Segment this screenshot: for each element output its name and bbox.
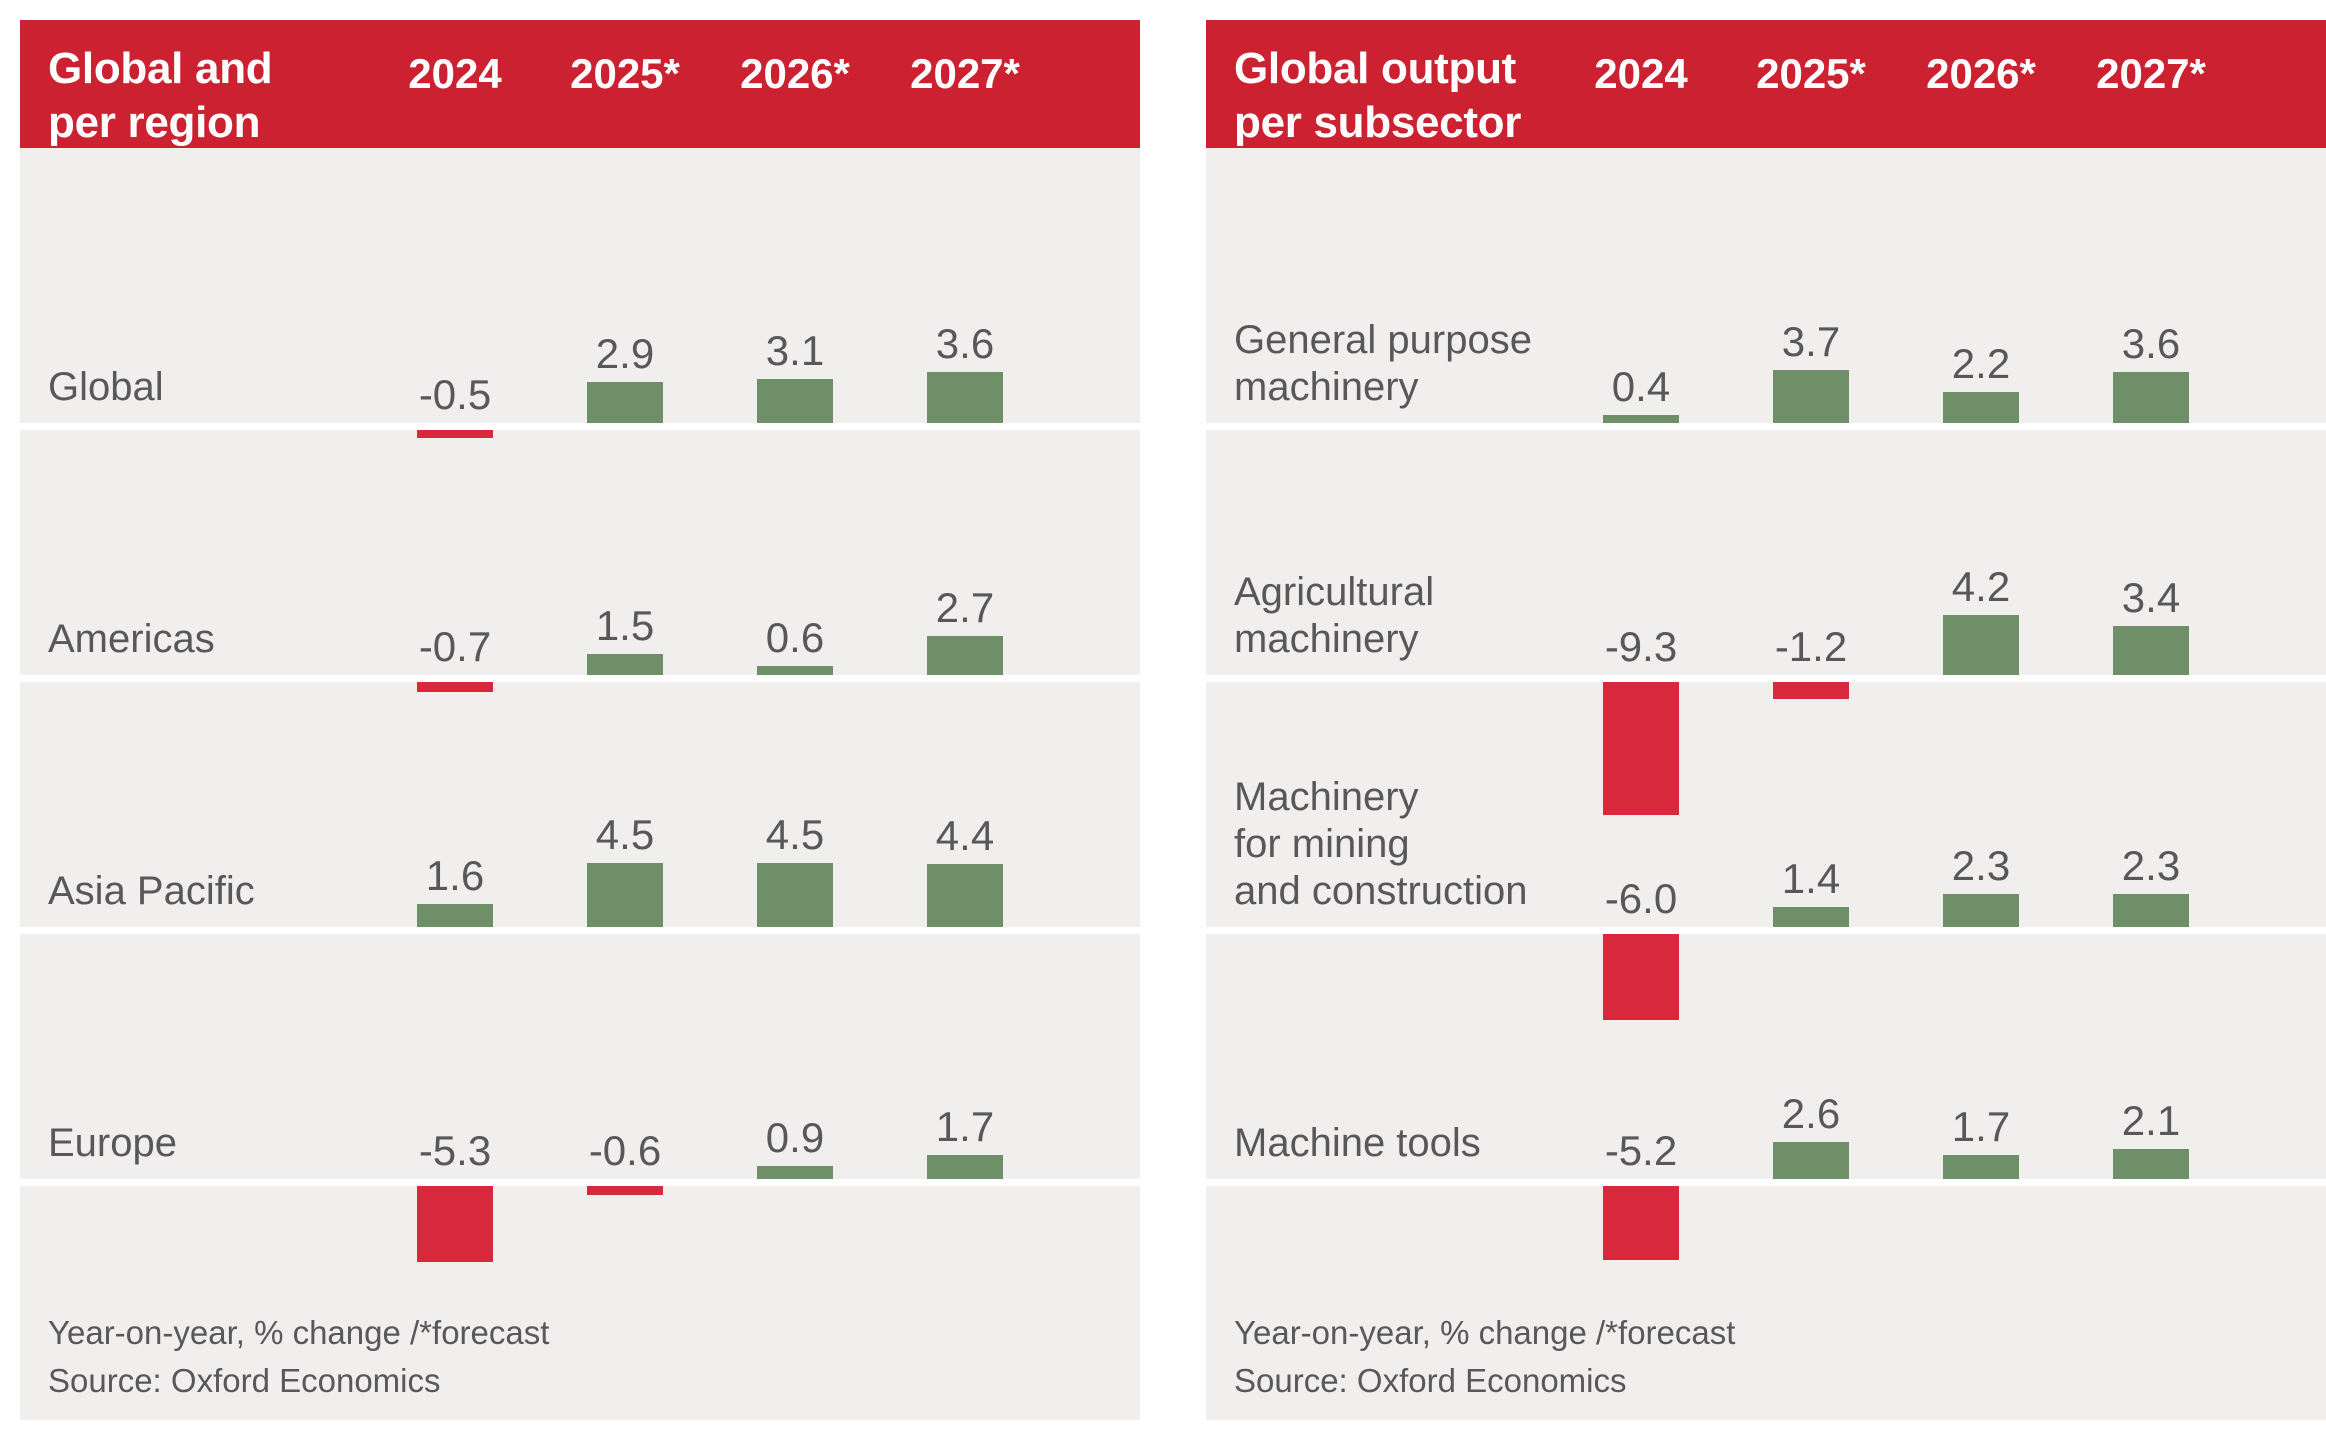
value-label: 3.1 bbox=[710, 327, 880, 375]
bar-2027-positive bbox=[2113, 372, 2189, 423]
bar-2027-positive bbox=[2113, 894, 2189, 927]
bar-2024-positive bbox=[1603, 415, 1679, 423]
panel-title-right: Global output per subsector bbox=[1234, 42, 1521, 149]
bar-2025-positive bbox=[1773, 1142, 1849, 1179]
bar-2026-positive bbox=[1943, 392, 2019, 423]
bar-2027-positive bbox=[2113, 626, 2189, 675]
value-label: 2.7 bbox=[880, 584, 1050, 632]
bar-2026-positive bbox=[757, 379, 833, 423]
value-label: 0.9 bbox=[710, 1114, 880, 1162]
row-label: Europe bbox=[48, 1120, 177, 1167]
column-header-2026-right: 2026* bbox=[1896, 50, 2066, 98]
bar-2024-negative bbox=[417, 430, 493, 438]
value-label: 0.6 bbox=[710, 614, 880, 662]
bar-2026-positive bbox=[1943, 615, 2019, 675]
value-label: 2.1 bbox=[2066, 1097, 2236, 1145]
value-label: 3.4 bbox=[2066, 574, 2236, 622]
column-header-2024-right: 2024 bbox=[1556, 50, 1726, 98]
value-label: 1.7 bbox=[1896, 1103, 2066, 1151]
footnote-line-1-right: Year-on-year, % change /*forecast bbox=[1234, 1314, 1735, 1352]
value-label: 4.2 bbox=[1896, 563, 2066, 611]
value-label: 3.6 bbox=[2066, 320, 2236, 368]
row-label: General purpose machinery bbox=[1234, 317, 1532, 411]
zero-baseline bbox=[1206, 1179, 2326, 1186]
bar-2024-negative bbox=[417, 1186, 493, 1262]
value-label: 2.3 bbox=[2066, 842, 2236, 890]
value-label: -9.3 bbox=[1556, 623, 1726, 671]
value-label: -1.2 bbox=[1726, 623, 1896, 671]
value-label: 3.7 bbox=[1726, 318, 1896, 366]
row-label: Global bbox=[48, 364, 164, 411]
bar-2027-positive bbox=[927, 1155, 1003, 1179]
panel-footer-left: Year-on-year, % change /*forecast Source… bbox=[20, 1300, 1140, 1420]
bar-2025-negative bbox=[587, 1186, 663, 1195]
bar-2025-positive bbox=[587, 654, 663, 675]
row-label: Machine tools bbox=[1234, 1120, 1481, 1167]
bar-2025-negative bbox=[1773, 682, 1849, 699]
bar-2025-positive bbox=[1773, 907, 1849, 927]
value-label: -5.2 bbox=[1556, 1127, 1726, 1175]
panel-header-right: Global output per subsector 2024 2025* 2… bbox=[1206, 20, 2326, 148]
panel-footer-right: Year-on-year, % change /*forecast Source… bbox=[1206, 1300, 2326, 1420]
bar-2024-negative bbox=[1603, 682, 1679, 815]
value-label: -0.6 bbox=[540, 1127, 710, 1175]
value-label: 1.5 bbox=[540, 602, 710, 650]
value-label: 2.3 bbox=[1896, 842, 2066, 890]
bar-2026-positive bbox=[757, 666, 833, 675]
value-label: 4.5 bbox=[710, 811, 880, 859]
bar-2027-positive bbox=[2113, 1149, 2189, 1179]
value-label: 3.6 bbox=[880, 320, 1050, 368]
chart-area-left: Global-0.52.93.13.6Americas-0.71.50.62.7… bbox=[20, 148, 1140, 1300]
row-label: Asia Pacific bbox=[48, 868, 255, 915]
bar-2024-negative bbox=[1603, 1186, 1679, 1260]
value-label: 4.4 bbox=[880, 812, 1050, 860]
value-label: 2.2 bbox=[1896, 340, 2066, 388]
row-label: Agricultural machinery bbox=[1234, 569, 1434, 663]
bar-2026-positive bbox=[757, 1166, 833, 1179]
value-label: 4.5 bbox=[540, 811, 710, 859]
footnote-line-2-right: Source: Oxford Economics bbox=[1234, 1362, 1627, 1400]
panel-title-left: Global and per region bbox=[48, 42, 272, 149]
value-label: -5.3 bbox=[370, 1127, 540, 1175]
panel-header-left: Global and per region 2024 2025* 2026* 2… bbox=[20, 20, 1140, 148]
row-label: Americas bbox=[48, 616, 215, 663]
value-label: 0.4 bbox=[1556, 363, 1726, 411]
column-header-2027-right: 2027* bbox=[2066, 50, 2236, 98]
value-label: 1.6 bbox=[370, 852, 540, 900]
bar-2024-positive bbox=[417, 904, 493, 927]
value-label: -0.7 bbox=[370, 623, 540, 671]
value-label: 1.4 bbox=[1726, 855, 1896, 903]
bar-2025-positive bbox=[587, 382, 663, 423]
zero-baseline bbox=[1206, 675, 2326, 682]
zero-baseline bbox=[20, 675, 1140, 682]
zero-baseline bbox=[20, 423, 1140, 430]
column-header-2024-left: 2024 bbox=[370, 50, 540, 98]
value-label: 2.9 bbox=[540, 330, 710, 378]
value-label: 1.7 bbox=[880, 1103, 1050, 1151]
footnote-line-2-left: Source: Oxford Economics bbox=[48, 1362, 441, 1400]
chart-area-right: General purpose machinery0.43.72.23.6Agr… bbox=[1206, 148, 2326, 1300]
bar-2027-positive bbox=[927, 864, 1003, 927]
bar-2027-positive bbox=[927, 372, 1003, 423]
value-label: -0.5 bbox=[370, 371, 540, 419]
zero-baseline bbox=[20, 927, 1140, 934]
bar-2024-negative bbox=[1603, 934, 1679, 1020]
value-label: 2.6 bbox=[1726, 1090, 1896, 1138]
footnote-line-1-left: Year-on-year, % change /*forecast bbox=[48, 1314, 549, 1352]
zero-baseline bbox=[1206, 423, 2326, 430]
bar-2026-positive bbox=[1943, 1155, 2019, 1179]
bar-2025-positive bbox=[1773, 370, 1849, 423]
column-header-2025-left: 2025* bbox=[540, 50, 710, 98]
column-header-2026-left: 2026* bbox=[710, 50, 880, 98]
panel-global-output-per-subsector: Global output per subsector 2024 2025* 2… bbox=[1206, 20, 2326, 1420]
bar-2025-positive bbox=[587, 863, 663, 927]
zero-baseline bbox=[20, 1179, 1140, 1186]
bar-2026-positive bbox=[757, 863, 833, 927]
zero-baseline bbox=[1206, 927, 2326, 934]
column-header-2027-left: 2027* bbox=[880, 50, 1050, 98]
bar-2026-positive bbox=[1943, 894, 2019, 927]
bar-2024-negative bbox=[417, 682, 493, 692]
row-label: Machinery for mining and construction bbox=[1234, 774, 1528, 916]
column-header-2025-right: 2025* bbox=[1726, 50, 1896, 98]
panel-global-and-per-region: Global and per region 2024 2025* 2026* 2… bbox=[20, 20, 1140, 1420]
value-label: -6.0 bbox=[1556, 875, 1726, 923]
bar-2027-positive bbox=[927, 636, 1003, 675]
